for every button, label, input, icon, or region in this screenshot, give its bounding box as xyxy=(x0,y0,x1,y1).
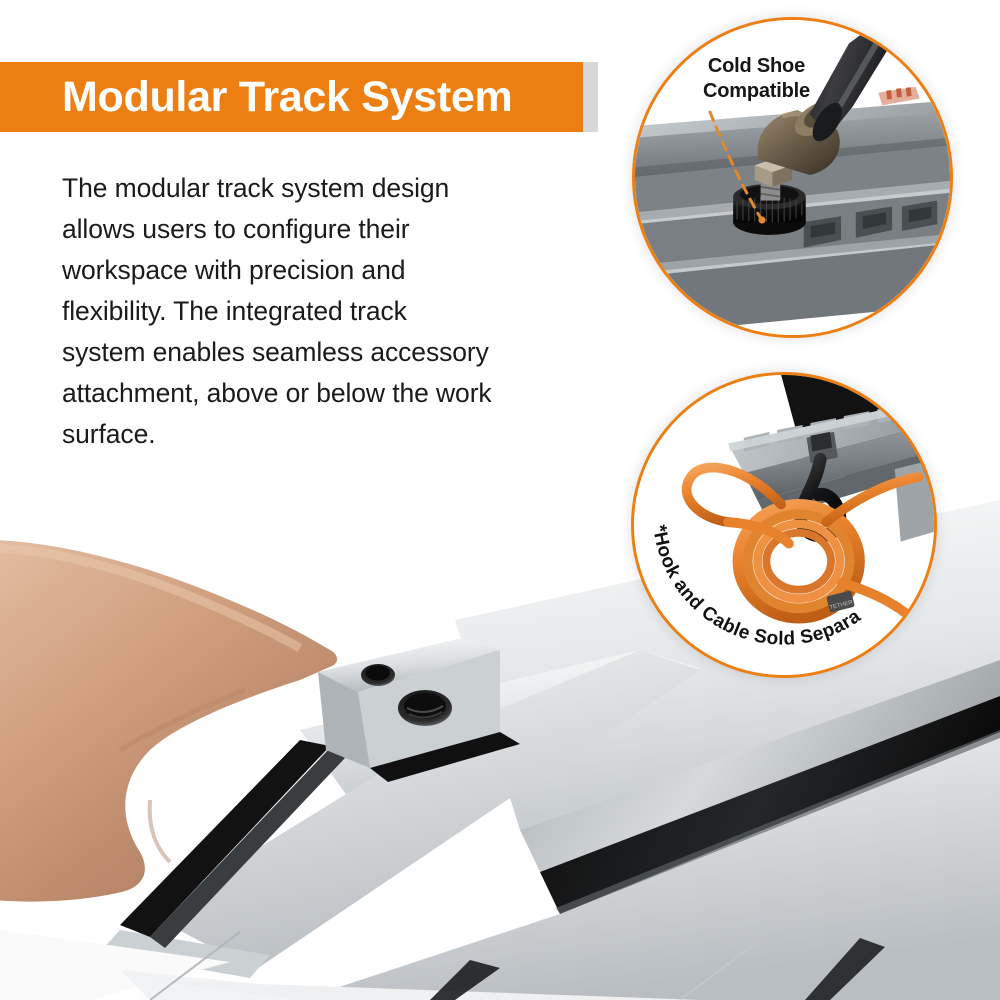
hook-cable-illustration: TETHER xyxy=(634,375,934,675)
marketing-image-canvas: Modular Track System The modular track s… xyxy=(0,0,1000,1000)
page-title: Modular Track System xyxy=(62,76,512,119)
callout-hook-cable: TETHER xyxy=(631,372,937,678)
callout-label-cold-shoe: Cold Shoe Compatible xyxy=(703,54,810,104)
description-paragraph: The modular track system design allows u… xyxy=(62,168,492,455)
title-banner: Modular Track System xyxy=(0,62,583,132)
title-banner-divider xyxy=(583,62,598,132)
